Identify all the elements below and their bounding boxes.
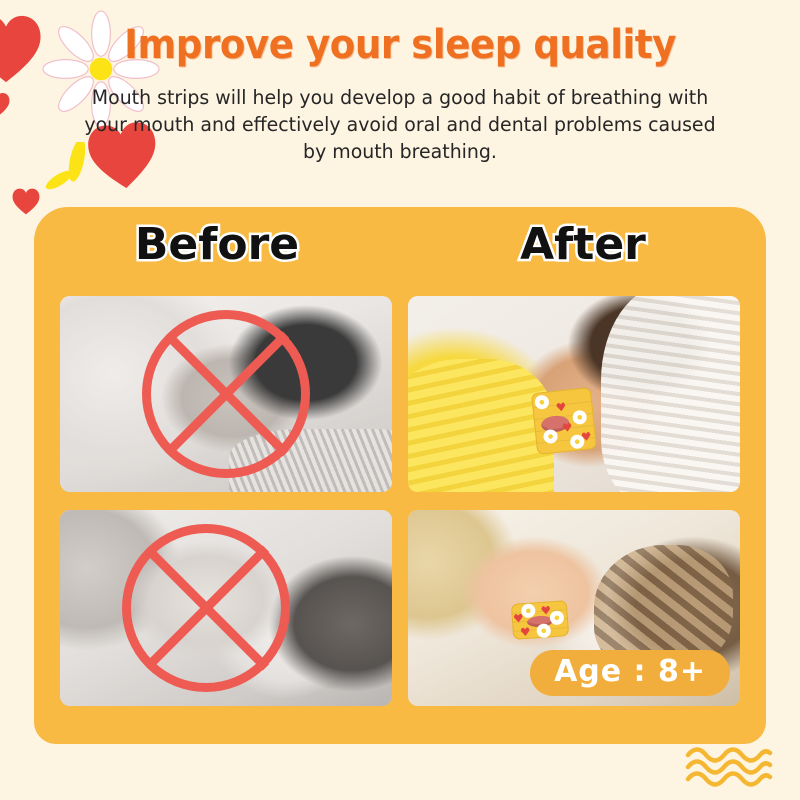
mouth-strip-icon — [531, 387, 597, 455]
comparison-grid: Age : 8+ — [60, 296, 740, 706]
page-title: Improve your sleep quality — [28, 0, 772, 68]
age-badge: Age : 8+ — [530, 650, 730, 696]
no-symbol-icon — [142, 310, 310, 478]
card-after-child: Age : 8+ — [408, 510, 740, 706]
comparison-panel: Before After — [34, 207, 766, 744]
label-after-text: After — [520, 219, 646, 270]
header: Improve your sleep quality Mouth strips … — [0, 0, 800, 165]
heart-icon — [12, 188, 40, 215]
page-subtitle: Mouth strips will help you develop a goo… — [80, 84, 720, 165]
before-after-labels: Before After — [34, 219, 766, 270]
label-before: Before — [34, 219, 400, 270]
card-before-child — [60, 510, 392, 706]
mouth-strip-icon — [511, 600, 569, 640]
label-after: After — [400, 219, 766, 270]
no-symbol-icon — [122, 524, 290, 692]
card-before-adult — [60, 296, 392, 492]
label-before-text: Before — [135, 219, 299, 270]
card-after-adult — [408, 296, 740, 492]
wave-lines-icon — [684, 745, 774, 792]
poster-canvas: Improve your sleep quality Mouth strips … — [0, 0, 800, 800]
